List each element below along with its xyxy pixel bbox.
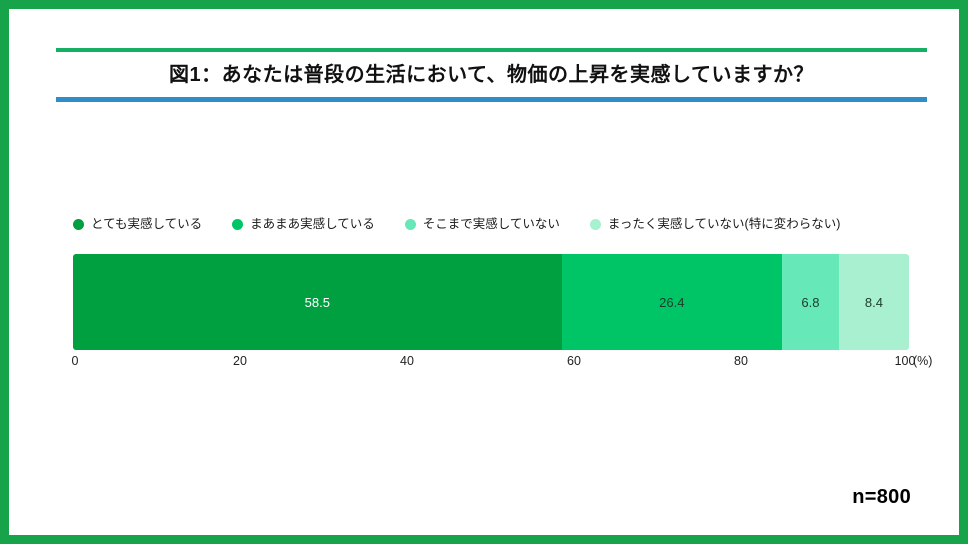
stacked-bar: 58.5 26.4 6.8 8.4 <box>73 254 909 350</box>
bar-segment-1: 26.4 <box>562 254 782 350</box>
sample-size-label: n=800 <box>852 486 911 509</box>
title-rule-bottom <box>56 97 927 102</box>
x-tick-4: 80 <box>734 354 748 368</box>
legend-item-3: まったく実感していない(特に変わらない) <box>590 218 840 231</box>
legend-item-0: とても実感している <box>73 218 202 231</box>
legend-label-2: そこまで実感していない <box>423 218 560 231</box>
bar-segment-0: 58.5 <box>73 254 562 350</box>
x-axis-unit-label: (%) <box>913 354 932 368</box>
legend-swatch-icon <box>590 219 601 230</box>
legend-swatch-icon <box>405 219 416 230</box>
x-tick-1: 20 <box>233 354 247 368</box>
slide-inner: 図1：あなたは普段の生活において、物価の上昇を実感していますか？ とても実感して… <box>9 9 959 535</box>
legend-label-3: まったく実感していない(特に変わらない) <box>608 218 840 231</box>
legend-swatch-icon <box>232 219 243 230</box>
chart-legend: とても実感している まあまあ実感している そこまで実感していない まったく実感し… <box>73 218 909 231</box>
page-title: 図1：あなたは普段の生活において、物価の上昇を実感していますか？ <box>56 52 927 97</box>
x-tick-3: 60 <box>567 354 581 368</box>
slide-frame: 図1：あなたは普段の生活において、物価の上昇を実感していますか？ とても実感して… <box>0 0 968 544</box>
legend-label-0: とても実感している <box>91 218 202 231</box>
legend-label-1: まあまあ実感している <box>250 218 375 231</box>
legend-item-1: まあまあ実感している <box>232 218 375 231</box>
x-tick-0: 0 <box>72 354 79 368</box>
legend-item-2: そこまで実感していない <box>405 218 560 231</box>
x-axis: 0 20 40 60 80 100 (%) <box>73 354 909 372</box>
bar-segment-3: 8.4 <box>839 254 909 350</box>
legend-swatch-icon <box>73 219 84 230</box>
bar-segment-2: 6.8 <box>782 254 839 350</box>
chart-plot-area: 58.5 26.4 6.8 8.4 <box>73 254 909 350</box>
title-block: 図1：あなたは普段の生活において、物価の上昇を実感していますか？ <box>56 48 927 102</box>
x-tick-2: 40 <box>400 354 414 368</box>
